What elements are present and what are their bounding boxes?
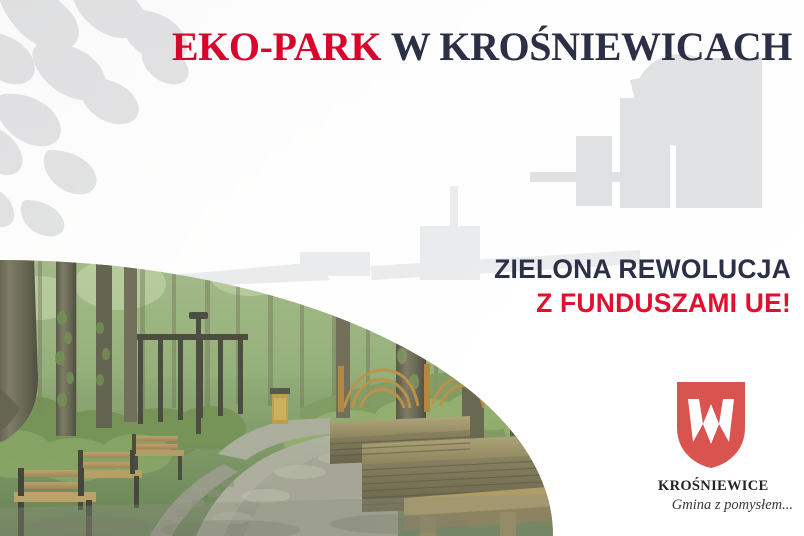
shield-crest-icon: [675, 380, 747, 470]
municipality-logo: KROŚNIEWICE Gmina z pomysłem...: [650, 380, 800, 520]
poster-canvas: EKO-PARK W KROŚNIEWICACH ZIELONA REWOLUC…: [0, 0, 804, 536]
page-title: EKO-PARK W KROŚNIEWICACH: [0, 27, 792, 67]
title-part-navy: W KROŚNIEWICACH: [391, 24, 792, 69]
logo-tagline: Gmina z pomysłem...: [650, 497, 796, 514]
title-part-red: EKO-PARK: [172, 24, 381, 69]
park-photo: [0, 258, 560, 536]
logo-municipality-name: KROŚNIEWICE: [650, 478, 796, 495]
park-photo-illustration: [0, 258, 560, 536]
park-photo-clip: [0, 258, 560, 536]
